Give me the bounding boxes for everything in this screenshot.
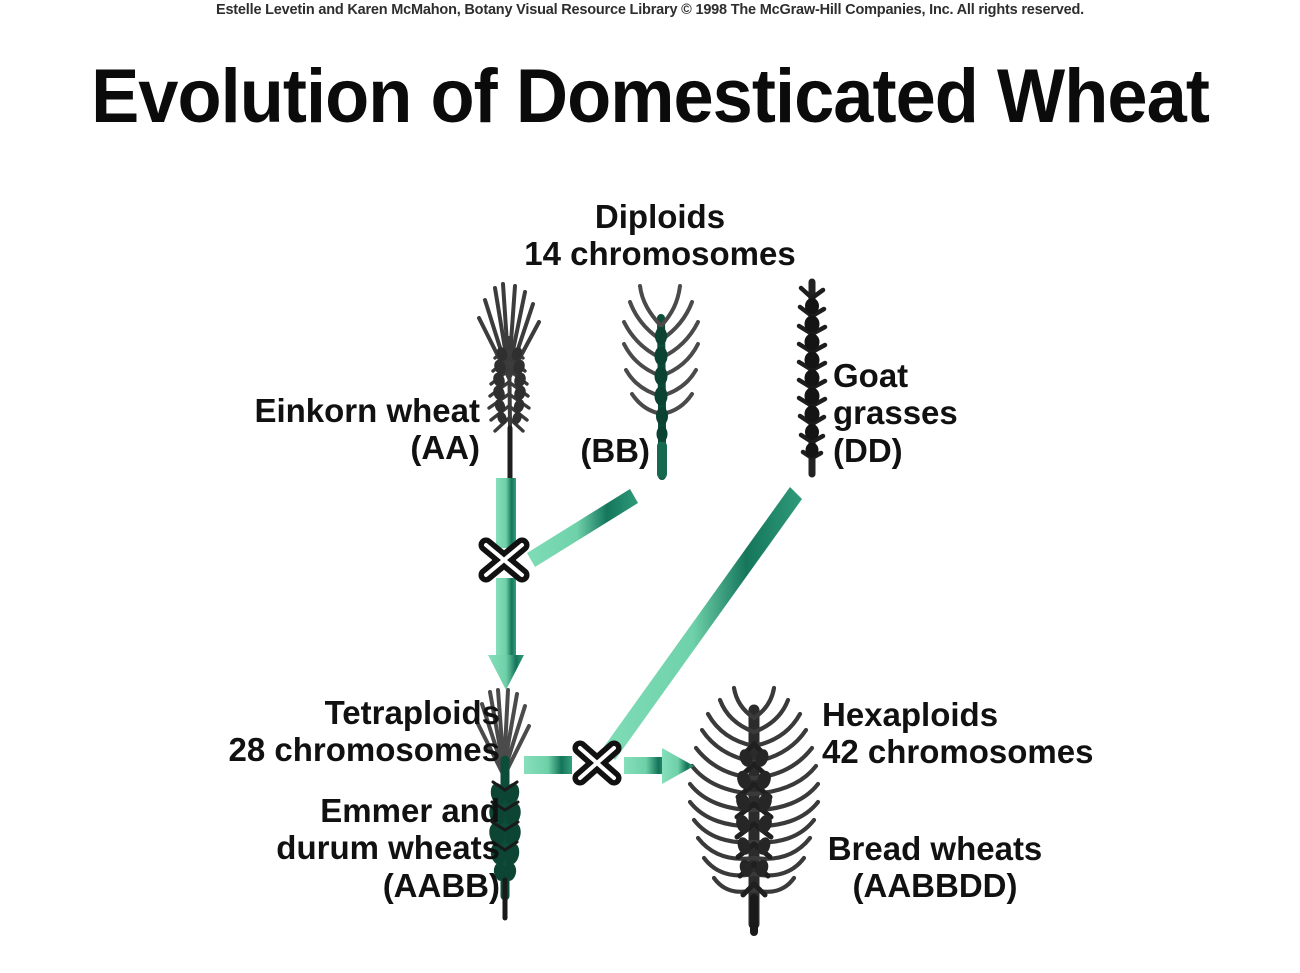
- emmer-durum-label: Emmer and durum wheats (AABB): [120, 792, 500, 904]
- diploids-heading: Diploids 14 chromosomes: [430, 198, 890, 273]
- arrow-bb-to-cross: [527, 489, 638, 567]
- goat-grasses-label: Goat grasses (DD): [833, 357, 1093, 469]
- tetraploids-heading: Tetraploids 28 chromosomes: [120, 694, 500, 769]
- arrow-cross-to-tetraploid: [488, 578, 524, 690]
- hexaploids-heading: Hexaploids 42 chromosomes: [822, 696, 1152, 771]
- goat-grass-illustration: [788, 276, 836, 476]
- diagram-page: Estelle Levetin and Karen McMahon, Botan…: [0, 0, 1300, 973]
- bb-genome-label: (BB): [540, 432, 650, 469]
- cross-symbol-upper: [486, 545, 522, 575]
- cross-symbol-lower: [580, 748, 614, 778]
- einkorn-wheat-label: Einkorn wheat (AA): [160, 392, 480, 467]
- bread-wheats-label: Bread wheats (AABBDD): [790, 830, 1080, 905]
- copyright-credit-line: Estelle Levetin and Karen McMahon, Botan…: [0, 2, 1300, 18]
- page-title: Evolution of Domesticated Wheat: [33, 57, 1268, 137]
